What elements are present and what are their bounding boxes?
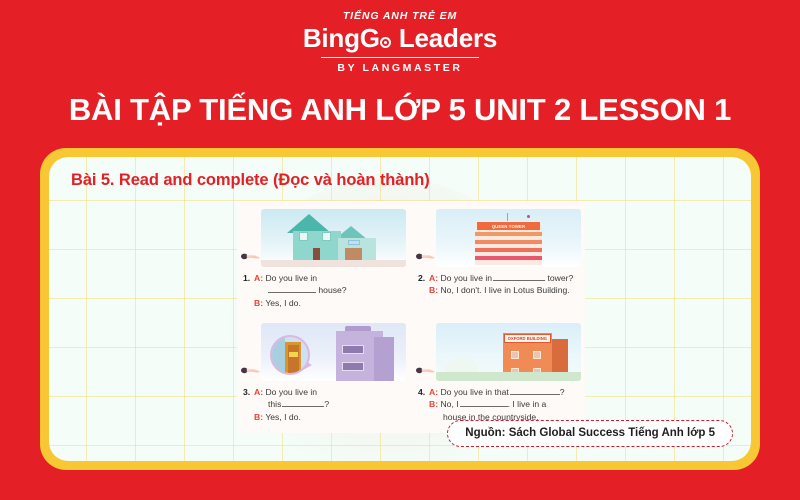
question-3-line-2: this? xyxy=(254,398,406,410)
divider-rule xyxy=(321,57,479,59)
question-3-line-1: A: Do you live in xyxy=(254,386,406,398)
question-4-picture-row: OXFORD BUILDING xyxy=(416,319,581,381)
oxford-window-1 xyxy=(511,351,519,359)
question-item-2: QUEEN TOWER 2. A: Do you live in tower? … xyxy=(416,205,581,317)
closeup-door-number-plate xyxy=(289,352,298,357)
worksheet-grid-surface: Bài 5. Read and complete (Đọc và hoàn th… xyxy=(49,157,751,461)
oxford-sign-label: OXFORD BUILDING xyxy=(504,334,550,343)
question-item-4: OXFORD BUILDING 4. A: Do you live in tha… xyxy=(416,319,581,431)
question-4-line-1: A: Do you live in that? xyxy=(429,386,581,398)
question-1-line-2: house? xyxy=(254,284,406,296)
question-4-line-2: B: No, I. I live in a xyxy=(429,398,581,410)
house-ground xyxy=(261,260,406,267)
closeup-wall xyxy=(272,337,285,375)
speaker-label-a: A: xyxy=(254,387,263,397)
house-window-3 xyxy=(348,240,360,245)
brand-sub-wrap: BY LANGMASTER xyxy=(303,57,497,74)
answer-blank-4[interactable] xyxy=(510,394,560,395)
question-4-lines: A: Do you live in that? B: No, I. I live… xyxy=(429,386,581,423)
question-3-lines: A: Do you live in this? B: Yes, I do. xyxy=(254,386,406,423)
picture-apartment-door xyxy=(261,323,406,381)
speaker-label-b: B: xyxy=(429,399,438,409)
tower-stripe-4 xyxy=(475,232,542,236)
question-4-line-2-before: No, I xyxy=(440,399,458,409)
brand-logo: TIẾNG ANH TRẺ EM BingG Leaders BY LANGMA… xyxy=(303,11,497,74)
question-2-lines: A: Do you live in tower? B: No, I don't.… xyxy=(429,272,581,297)
question-item-3: 3. A: Do you live in this? B: Yes, I do. xyxy=(241,319,406,431)
tower-balloon-dot xyxy=(527,215,530,218)
question-1-line-3-text: Yes, I do. xyxy=(265,298,301,308)
question-3-number: 3. xyxy=(241,386,254,423)
question-2-text: 2. A: Do you live in tower? B: No, I don… xyxy=(416,272,581,297)
question-1-line-1-text: Do you live in xyxy=(265,273,317,283)
question-4-line-1-before: Do you live in that xyxy=(440,387,508,397)
apartment-window-2 xyxy=(342,362,364,371)
question-3-line-3-text: Yes, I do. xyxy=(265,412,301,422)
tower-stripe-3 xyxy=(475,240,542,244)
speaker-label-a: A: xyxy=(254,273,263,283)
question-3-picture-row xyxy=(241,319,406,381)
picture-teal-house xyxy=(261,209,406,267)
closeup-door xyxy=(288,345,299,373)
brand-name-part1: BingG xyxy=(303,23,380,53)
oxford-window-2 xyxy=(533,351,541,359)
question-item-1: 1. A: Do you live in house? B: Yes, I do… xyxy=(241,205,406,317)
answer-blank-2[interactable] xyxy=(493,280,545,281)
question-1-number: 1. xyxy=(241,272,254,309)
exercise-heading: Bài 5. Read and complete (Đọc và hoàn th… xyxy=(71,171,430,190)
question-2-number: 2. xyxy=(416,272,429,297)
globe-o-icon xyxy=(380,37,391,48)
question-2-line-2: B: No, I don't. I live in Lotus Building… xyxy=(429,284,581,296)
question-2-line-1-before: Do you live in xyxy=(440,273,492,283)
question-4-text: 4. A: Do you live in that? B: No, I. I l… xyxy=(416,386,581,423)
pointing-hand-icon xyxy=(241,365,261,377)
question-1-picture-row xyxy=(241,205,406,267)
question-4-line-2-after: . I live in a xyxy=(508,399,547,409)
question-2-line-1-after: tower? xyxy=(547,273,573,283)
question-2-picture-row: QUEEN TOWER xyxy=(416,205,581,267)
question-2-line-1: A: Do you live in tower? xyxy=(429,272,581,284)
brand-name-part2: Leaders xyxy=(392,23,497,53)
question-3-line-3: B: Yes, I do. xyxy=(254,411,406,423)
question-4-line-1-after: ? xyxy=(560,387,565,397)
speaker-label-b: B: xyxy=(429,285,438,295)
apartment-window-1 xyxy=(342,345,364,354)
question-1-text: 1. A: Do you live in house? B: Yes, I do… xyxy=(241,272,406,309)
answer-blank-3[interactable] xyxy=(282,406,324,407)
picture-queen-tower: QUEEN TOWER xyxy=(436,209,581,267)
question-1-lines: A: Do you live in house? B: Yes, I do. xyxy=(254,272,406,309)
bush-shape xyxy=(445,358,479,372)
answer-blank-5[interactable] xyxy=(460,406,508,407)
question-1-line-2-text: house? xyxy=(318,285,346,295)
page-header: TIẾNG ANH TRẺ EM BingG Leaders BY LANGMA… xyxy=(0,0,800,145)
question-4-number: 4. xyxy=(416,386,429,423)
question-1-line-3: B: Yes, I do. xyxy=(254,297,406,309)
question-3-text: 3. A: Do you live in this? B: Yes, I do. xyxy=(241,386,406,423)
picture-oxford-building: OXFORD BUILDING xyxy=(436,323,581,381)
house-window-2 xyxy=(322,232,331,241)
speaker-label-a: A: xyxy=(429,387,438,397)
speaker-label-b: B: xyxy=(254,412,263,422)
tower-stripe-2 xyxy=(475,248,542,252)
question-3-line-1-text: Do you live in xyxy=(265,387,317,397)
question-2-line-2-text: No, I don't. I live in Lotus Building. xyxy=(440,285,569,295)
tower-stripe-1 xyxy=(475,256,542,260)
brand-subtitle: BY LANGMASTER xyxy=(337,63,462,74)
speaker-label-b: B: xyxy=(254,298,263,308)
oxford-grass xyxy=(436,372,581,381)
worksheet-card: Bài 5. Read and complete (Đọc và hoàn th… xyxy=(40,148,760,470)
brand-name: BingG Leaders xyxy=(303,25,497,51)
pointing-hand-icon xyxy=(416,251,436,263)
pointing-hand-icon xyxy=(416,365,436,377)
apartment-body-side xyxy=(374,337,394,381)
brand-tagline: TIẾNG ANH TRẺ EM xyxy=(303,11,497,22)
source-note-badge: Nguồn: Sách Global Success Tiếng Anh lớp… xyxy=(447,420,733,447)
question-1-line-1: A: Do you live in xyxy=(254,272,406,284)
house-window-1 xyxy=(299,232,308,241)
speaker-label-a: A: xyxy=(429,273,438,283)
answer-blank-1[interactable] xyxy=(268,292,316,293)
question-3-line-2-before: this xyxy=(268,399,281,409)
door-closeup-bubble xyxy=(270,335,310,375)
tower-sign-label: QUEEN TOWER xyxy=(477,222,541,230)
pointing-hand-icon xyxy=(241,251,261,263)
question-3-line-2-after: ? xyxy=(324,399,329,409)
page-title: BÀI TẬP TIẾNG ANH LỚP 5 UNIT 2 LESSON 1 xyxy=(69,92,731,128)
textbook-scan: 1. A: Do you live in house? B: Yes, I do… xyxy=(237,201,585,433)
